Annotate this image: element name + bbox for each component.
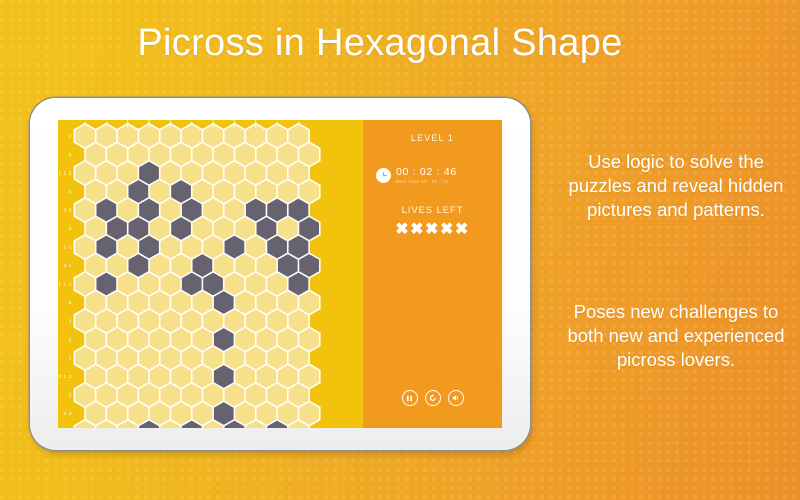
row-clue: 2 1 1 — [58, 374, 72, 380]
column-clue: 3 — [276, 121, 279, 126]
tablet-screen: 22112111511211133201 1 203 232 12 11 1 1… — [58, 120, 502, 428]
row-clue: 2 1 — [64, 263, 72, 269]
column-clue: 1 — [233, 124, 236, 129]
row-clue: 3 — [69, 226, 72, 232]
sound-button[interactable] — [448, 390, 464, 406]
row-clue: 2 1 — [64, 245, 72, 251]
row-clue: 2 — [69, 134, 72, 140]
feature-text-logic: Use logic to solve the puzzles and revea… — [562, 150, 790, 222]
pause-button[interactable] — [402, 390, 418, 406]
restart-button[interactable] — [425, 390, 441, 406]
row-clue: 3 2 — [64, 208, 72, 214]
row-clue: 2 — [69, 393, 72, 399]
game-controls — [363, 390, 502, 406]
column-clue: 1 — [126, 124, 129, 129]
column-clue: 1 — [169, 124, 172, 129]
column-clue: 1 — [254, 124, 257, 129]
row-clue: 1 1 1 — [58, 282, 72, 288]
level-label: LEVEL 1 — [363, 133, 502, 143]
page-title: Picross in Hexagonal Shape — [0, 22, 760, 65]
clock-icon — [376, 168, 391, 183]
column-clue: 5 — [190, 121, 193, 126]
timer-value: 00 : 02 : 46 — [396, 167, 457, 178]
pause-icon — [406, 395, 413, 402]
hex-grid[interactable]: 22112111511211133201 1 203 232 12 11 1 1… — [58, 120, 363, 428]
timer: 00 : 02 : 46 Best Time 00 : 01 : 12 — [376, 167, 457, 184]
row-clue: 4 — [69, 300, 72, 306]
column-clue: 2 — [84, 121, 87, 126]
game-side-panel: LEVEL 1 00 : 02 : 46 Best Time 00 : 01 :… — [363, 120, 502, 428]
column-clue: 3 — [297, 121, 300, 126]
sound-icon — [452, 394, 460, 402]
row-clue: 2 3 — [64, 411, 72, 417]
row-clue: 2 — [69, 337, 72, 343]
best-time-value: Best Time 00 : 01 : 12 — [396, 180, 457, 185]
row-clue: 0 — [69, 189, 72, 195]
row-clue: 1 1 2 — [58, 171, 72, 177]
row-clue: 1 — [69, 356, 72, 362]
lives-left-marks: ✖✖✖✖✖ — [363, 219, 502, 239]
column-clue: 2 — [105, 121, 108, 126]
row-clue: 0 — [69, 152, 72, 158]
tablet-device: 22112111511211133201 1 203 232 12 11 1 1… — [30, 98, 530, 450]
lives-left-label: LIVES LEFT — [363, 205, 502, 216]
row-clue: 3 — [69, 319, 72, 325]
column-clue: 1 — [212, 124, 215, 129]
column-clue: 1 — [148, 124, 151, 129]
restart-icon — [429, 394, 437, 402]
feature-text-challenges: Poses new challenges to both new and exp… — [562, 300, 790, 372]
puzzle-board[interactable]: 22112111511211133201 1 203 232 12 11 1 1… — [58, 120, 363, 428]
